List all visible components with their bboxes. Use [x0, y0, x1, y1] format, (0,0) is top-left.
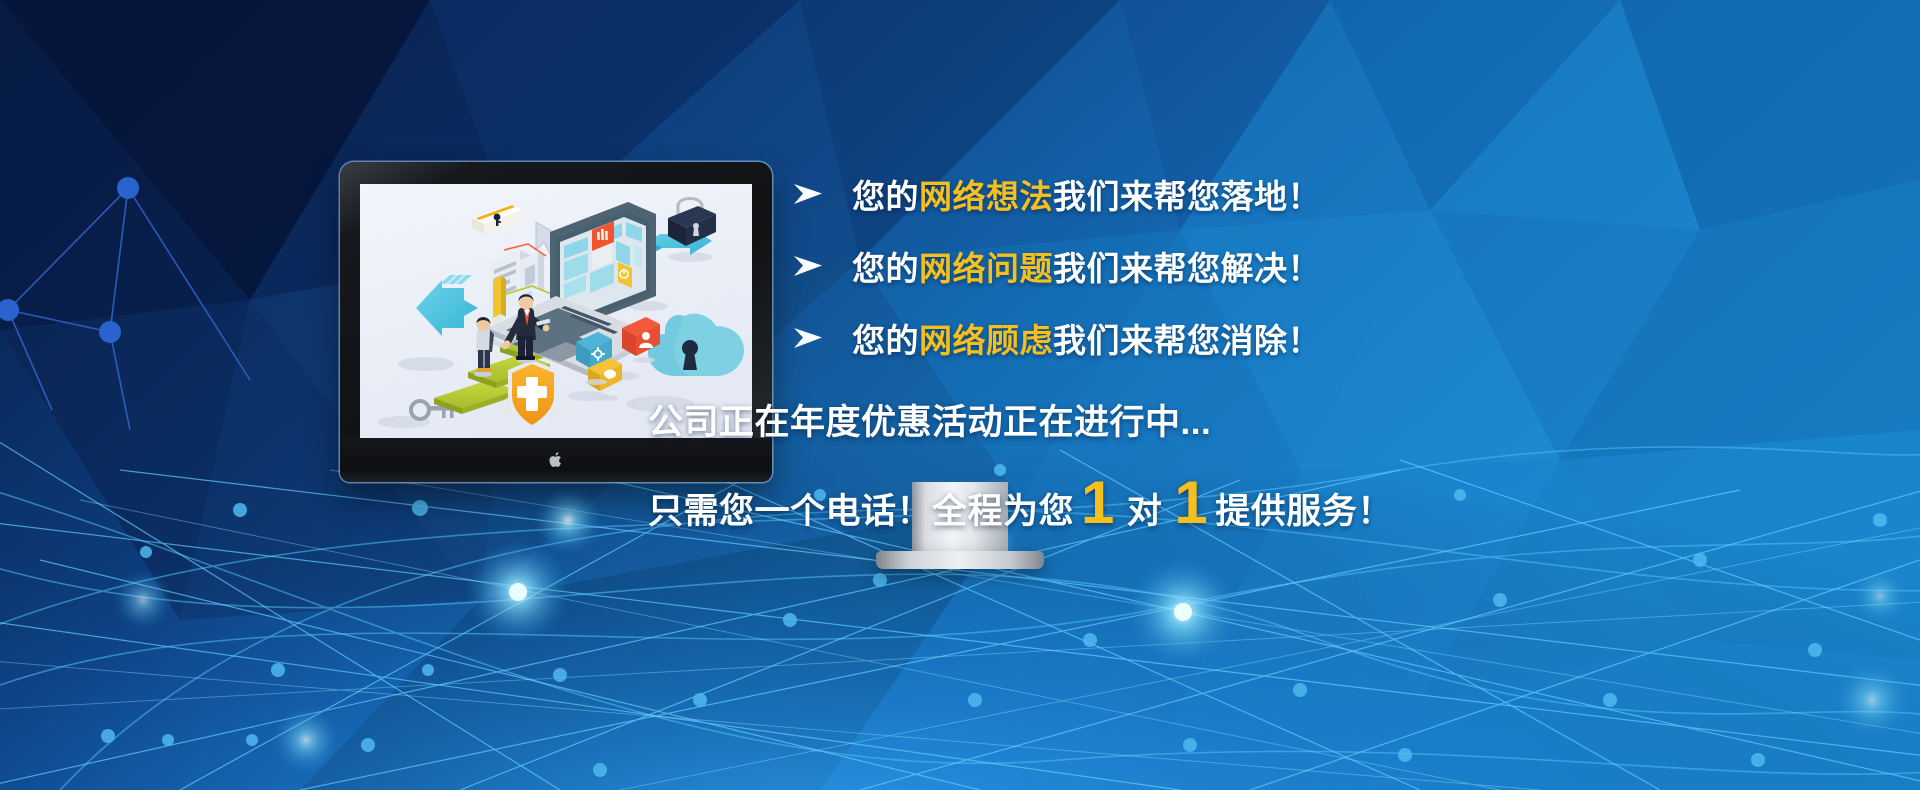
- promo-headline: 公司正在年度优惠活动正在进行中...: [648, 394, 1882, 445]
- bullet-lead: 您的: [852, 178, 919, 215]
- promo-banner: 您的网络想法我们来帮您落地！ 您的网络问题我们来帮您解决！ 您的网络顾虑我们来帮…: [0, 0, 1920, 790]
- arrow-right-icon: [792, 255, 852, 277]
- promo-number-one-second: 1: [1167, 480, 1215, 527]
- bullet-row: 您的网络顾虑我们来帮您消除！: [792, 302, 1882, 374]
- bullet-highlight: 网络问题: [919, 250, 1053, 287]
- promo-subline-part1: 只需您一个电话！全程为您: [648, 483, 1074, 534]
- bullet-lead: 您的: [852, 322, 919, 359]
- arrow-right-icon: [792, 183, 852, 205]
- promo-subline-middle: 对: [1122, 483, 1168, 534]
- bullet-tail: 我们来帮您解决！: [1053, 250, 1321, 287]
- bullet-text: 您的网络想法我们来帮您落地！: [852, 170, 1321, 218]
- promo-subline: 只需您一个电话！全程为您 1 对 1 提供服务！: [648, 480, 1882, 534]
- monitor-foot: [876, 551, 1044, 569]
- promo-number-one-first: 1: [1074, 480, 1122, 527]
- bullet-text: 您的网络顾虑我们来帮您消除！: [852, 314, 1321, 362]
- promo-subline-part2: 提供服务！: [1215, 483, 1393, 534]
- bullet-row: 您的网络想法我们来帮您落地！: [792, 158, 1882, 230]
- bullet-highlight: 网络想法: [919, 178, 1053, 215]
- bullet-text: 您的网络问题我们来帮您解决！: [852, 242, 1321, 290]
- apple-logo-icon: [549, 451, 564, 469]
- bullet-lead: 您的: [852, 250, 919, 287]
- arrow-right-icon: [792, 327, 852, 349]
- marketing-copy-block: 您的网络想法我们来帮您落地！ 您的网络问题我们来帮您解决！ 您的网络顾虑我们来帮…: [792, 158, 1882, 534]
- bullet-row: 您的网络问题我们来帮您解决！: [792, 230, 1882, 302]
- bullet-tail: 我们来帮您消除！: [1053, 322, 1321, 359]
- bullet-highlight: 网络顾虑: [919, 322, 1053, 359]
- bullet-tail: 我们来帮您落地！: [1053, 178, 1321, 215]
